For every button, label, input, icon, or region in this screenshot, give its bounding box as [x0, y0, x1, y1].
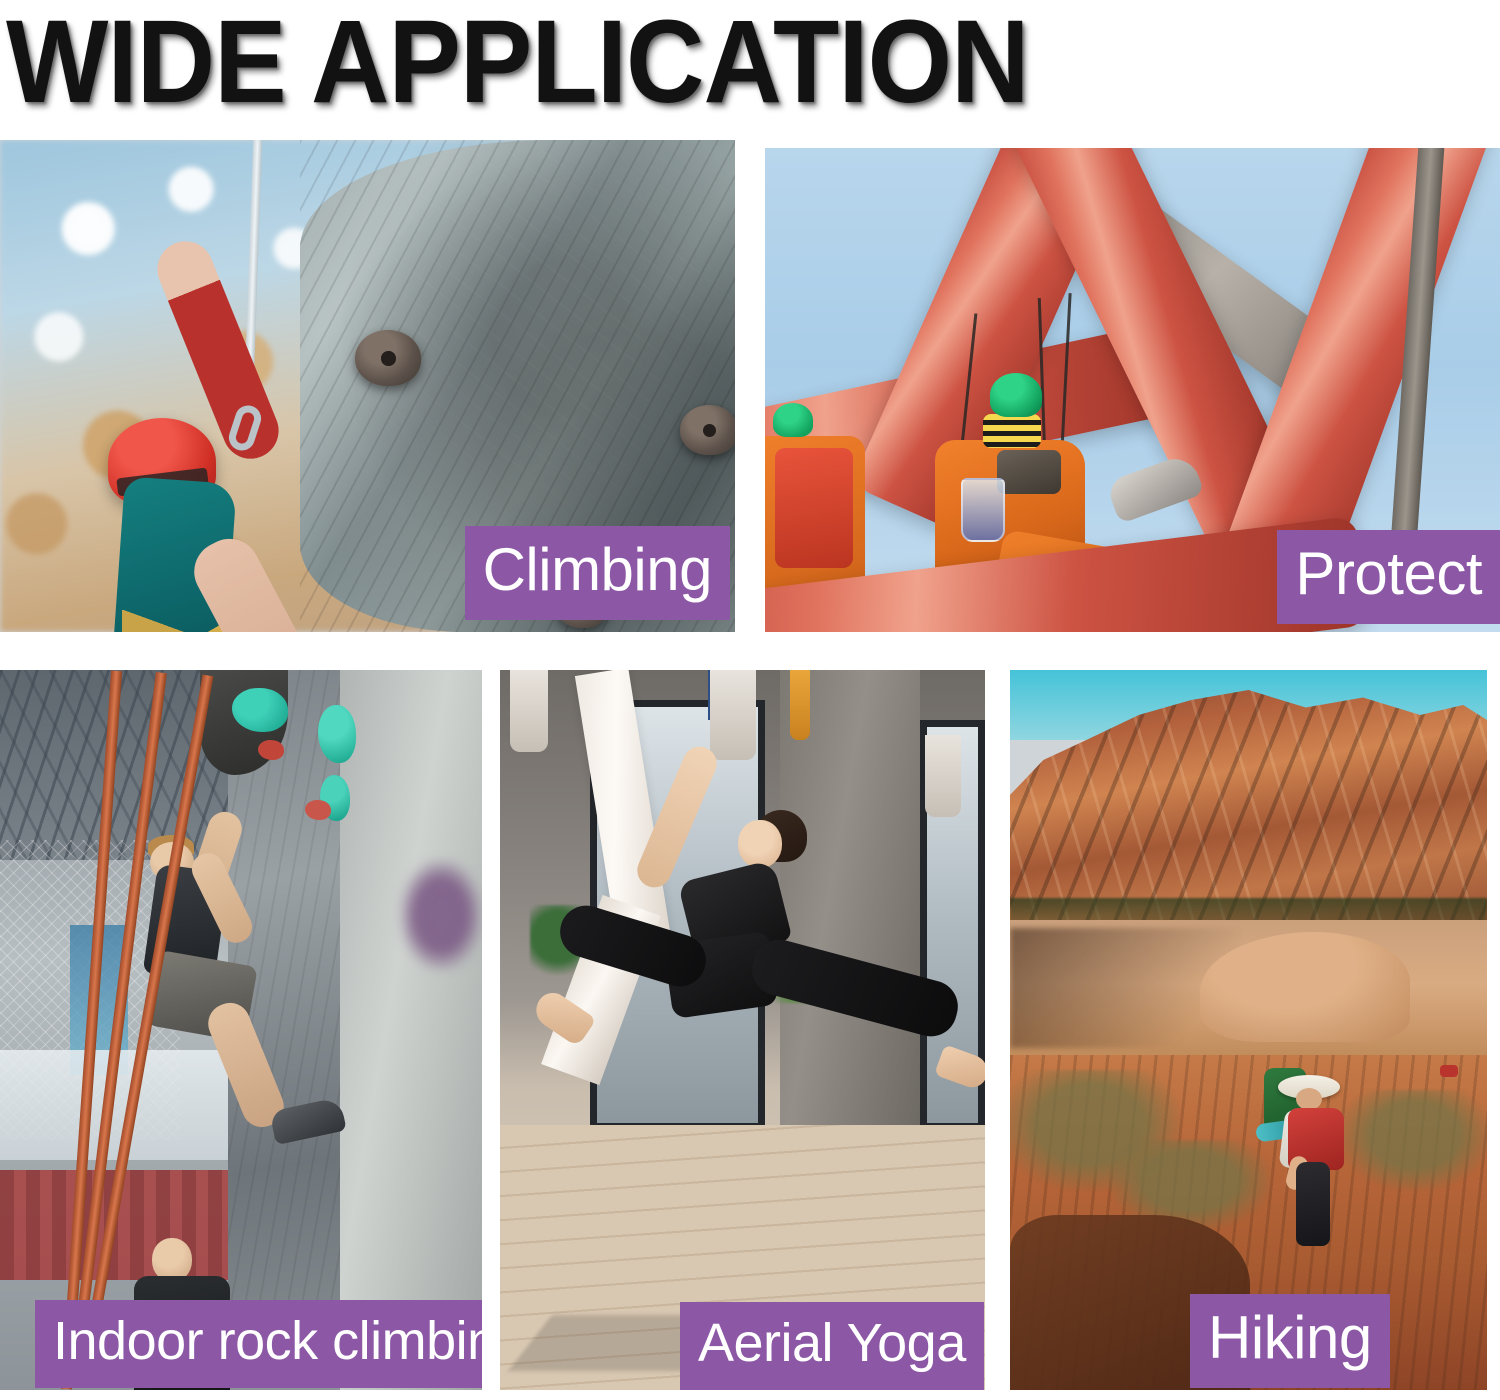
page-title: WIDE APPLICATION [6, 0, 1029, 130]
paint-bucket [961, 478, 1005, 542]
foreground-blur [400, 860, 482, 970]
infographic-root: WIDE APPLICATION Climbing [0, 0, 1500, 1400]
yogi-head [738, 820, 782, 868]
climbing-hold-icon [680, 405, 735, 455]
photo-protect: Protect [765, 148, 1500, 632]
photo-hiking: Hiking [1010, 670, 1487, 1390]
badge-climbing: Climbing [465, 526, 730, 620]
hiker-legs [1296, 1162, 1330, 1246]
concrete-wall [780, 670, 920, 1140]
teal-hold-icon [318, 705, 356, 763]
green-hardhat [990, 373, 1042, 417]
hanging-silk [925, 735, 961, 817]
hiker-head [1296, 1088, 1322, 1110]
climbing-hold-icon [355, 330, 421, 386]
badge-indoor-rock-climbing: Indoor rock climbing [35, 1300, 482, 1388]
photo-climbing: Climbing [0, 140, 735, 632]
badge-hiking: Hiking [1190, 1294, 1390, 1388]
hanging-silk [710, 670, 756, 760]
distant-hiker [1440, 1065, 1458, 1077]
hanging-silk [510, 670, 548, 752]
badge-protect: Protect [1277, 530, 1500, 624]
second-worker-vest [775, 448, 853, 568]
second-worker-hardhat [773, 403, 813, 437]
photo-indoor-rock-climbing: Indoor rock climbing [0, 670, 482, 1390]
teal-hold-icon [232, 688, 288, 732]
concrete-pillar [340, 670, 482, 1390]
red-hold-icon [305, 800, 331, 820]
photo-aerial-yoga: Aerial Yoga [500, 670, 985, 1390]
badge-aerial-yoga: Aerial Yoga [680, 1302, 984, 1390]
red-hold-icon [258, 740, 284, 760]
dry-brush [1340, 1090, 1487, 1190]
hanging-yellow-strap [790, 670, 810, 740]
tool-bag [997, 450, 1061, 494]
worker-neck-stripes [983, 414, 1041, 448]
